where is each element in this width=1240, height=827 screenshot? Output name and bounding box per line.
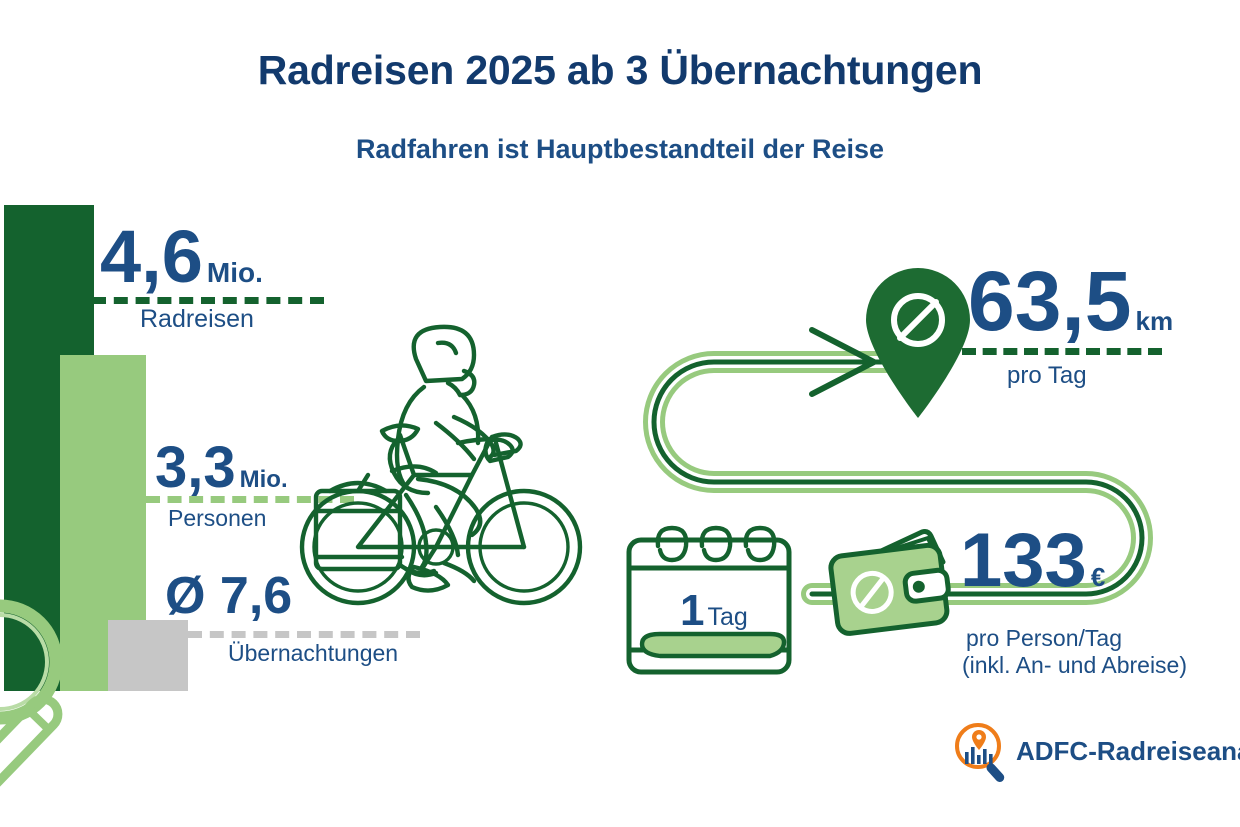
- stat-radreisen-number: 4,6: [100, 215, 203, 298]
- leader-line-uebernachtungen: [188, 631, 420, 638]
- stat-personen-label: Personen: [168, 505, 266, 532]
- stat-euro-value: 133€: [960, 525, 1105, 597]
- infographic-canvas: Radreisen 2025 ab 3 Übernachtungen Radfa…: [0, 0, 1240, 827]
- calendar-day-number: 1: [680, 586, 704, 635]
- stat-euro-label-line2: (inkl. An- und Abreise): [962, 652, 1187, 679]
- stat-radreisen-label: Radreisen: [140, 305, 254, 334]
- stat-naechte-number: Ø 7,6: [165, 567, 292, 625]
- wallet-icon: [826, 524, 966, 648]
- stat-personen-unit: Mio.: [240, 466, 288, 493]
- stat-km-label: pro Tag: [1007, 362, 1087, 390]
- stat-euro-label-line1: pro Person/Tag: [966, 625, 1122, 652]
- stat-personen-number: 3,3: [155, 435, 236, 500]
- stat-radreisen-value: 4,6Mio.: [100, 222, 263, 292]
- map-pin-icon: [858, 268, 978, 420]
- page-subtitle: Radfahren ist Hauptbestandteil der Reise: [0, 135, 1240, 165]
- stat-radreisen-unit: Mio.: [207, 257, 263, 288]
- cyclist-icon: [296, 325, 586, 625]
- stat-euro-unit: €: [1091, 562, 1105, 592]
- stat-km-value: 63,5km: [968, 262, 1173, 342]
- calendar-day-unit: Tag: [707, 603, 747, 631]
- stat-km-number: 63,5: [968, 254, 1132, 348]
- stat-naechte-label: Übernachtungen: [228, 640, 398, 667]
- stat-personen-value: 3,3Mio.: [155, 440, 288, 495]
- leader-line-radreisen: [92, 297, 324, 304]
- stat-km-unit: km: [1136, 306, 1174, 336]
- adfc-logo[interactable]: ADFC-Radreiseanalyse: [952, 722, 1228, 784]
- leader-line-km: [962, 348, 1162, 355]
- stat-naechte-value: Ø 7,6: [165, 572, 292, 621]
- calendar-day-text: 1Tag: [680, 586, 748, 636]
- magnifier-chart-icon: [952, 722, 1012, 782]
- logo-text: ADFC-Radreiseanalyse: [1016, 736, 1240, 767]
- page-title: Radreisen 2025 ab 3 Übernachtungen: [0, 48, 1240, 93]
- magnifier-icon: [0, 592, 128, 827]
- stat-euro-number: 133: [960, 518, 1087, 603]
